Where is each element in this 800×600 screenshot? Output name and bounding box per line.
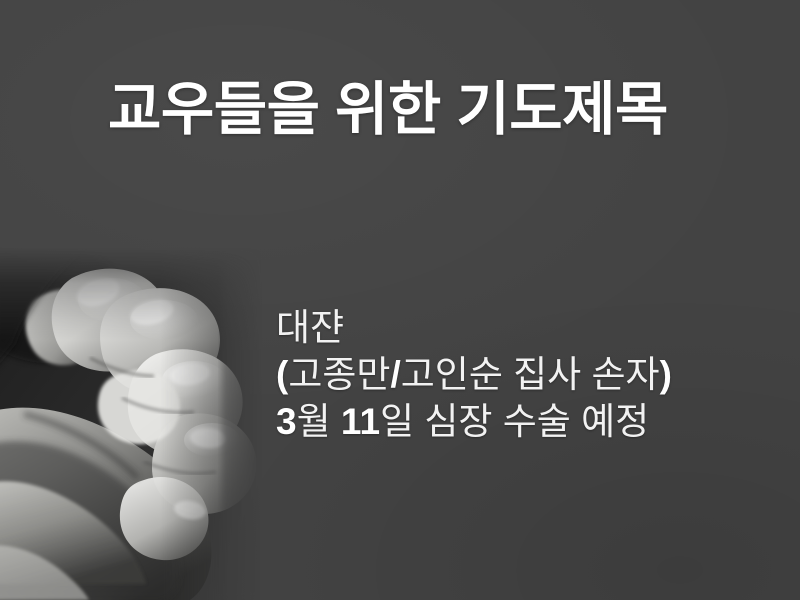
month-unit: 월 [297, 401, 341, 442]
close-paren: ) [660, 354, 672, 395]
family-role: 집사 손자 [503, 354, 660, 395]
person-name: 대쟌 [276, 307, 344, 348]
open-paren: ( [276, 354, 288, 395]
body-line-schedule: 3월 11일 심장 수술 예정 [276, 398, 776, 445]
praying-hands-photo [0, 248, 262, 600]
prayer-request-slide: 교우들을 위한 기도제목 대쟌 (고종만/고인순 집사 손자) 3월 11일 심… [0, 0, 800, 600]
grandfather-name: 고종만 [288, 354, 390, 395]
day-number: 11 [341, 401, 380, 442]
schedule-text: 일 심장 수술 예정 [380, 401, 649, 442]
prayer-request-body: 대쟌 (고종만/고인순 집사 손자) 3월 11일 심장 수술 예정 [276, 304, 776, 445]
name-separator: / [390, 354, 400, 395]
grandmother-name: 고인순 [401, 354, 503, 395]
body-line-name: 대쟌 [276, 304, 776, 351]
body-line-family: (고종만/고인순 집사 손자) [276, 351, 776, 398]
slide-title: 교우들을 위한 기도제목 [108, 78, 708, 143]
month-number: 3 [276, 401, 297, 442]
